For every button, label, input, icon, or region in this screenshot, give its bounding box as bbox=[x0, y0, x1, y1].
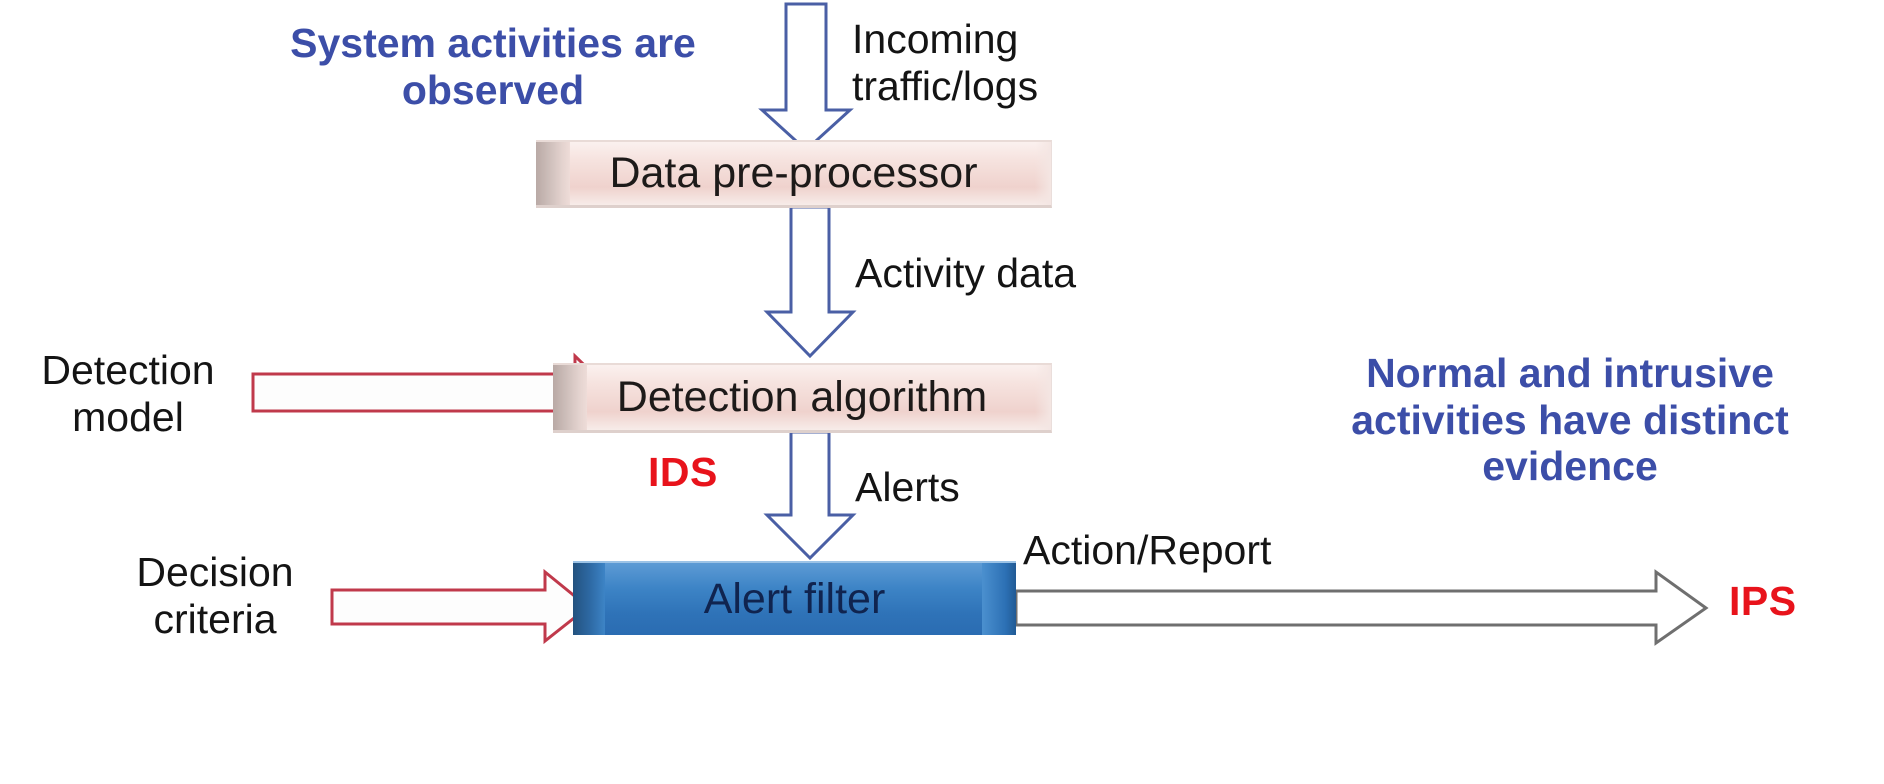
note-normal-intrusive-evidence: Normal and intrusive activities have dis… bbox=[1270, 350, 1870, 490]
label-activity-data: Activity data bbox=[855, 250, 1185, 297]
diagram-canvas: Data pre-processor Detection algorithm A… bbox=[0, 0, 1884, 784]
tag-ips: IPS bbox=[1729, 578, 1797, 625]
box-detection-algorithm[interactable]: Detection algorithm bbox=[553, 363, 1052, 433]
tag-ids: IDS bbox=[648, 449, 718, 496]
note-system-activities-observed: System activities are observed bbox=[258, 20, 728, 113]
alert-filter-right-bevel bbox=[982, 563, 1016, 635]
arrow-alerts bbox=[767, 432, 853, 558]
label-incoming-traffic: Incoming traffic/logs bbox=[852, 16, 1152, 109]
label-alerts: Alerts bbox=[855, 464, 1075, 511]
label-action-report: Action/Report bbox=[1023, 527, 1383, 574]
arrow-decision-criteria bbox=[332, 572, 588, 641]
box-alert-filter[interactable]: Alert filter bbox=[573, 561, 1016, 635]
arrow-incoming-traffic bbox=[762, 4, 850, 150]
input-detection-model: Detection model bbox=[8, 347, 248, 440]
arrow-action-report bbox=[1016, 572, 1706, 643]
box-detection-algorithm-label: Detection algorithm bbox=[617, 373, 987, 422]
box-alert-filter-label: Alert filter bbox=[704, 575, 886, 624]
arrow-activity-data bbox=[767, 207, 853, 356]
box-data-preprocessor-label: Data pre-processor bbox=[609, 149, 977, 198]
box-data-preprocessor[interactable]: Data pre-processor bbox=[536, 140, 1052, 208]
input-decision-criteria: Decision criteria bbox=[95, 549, 335, 642]
